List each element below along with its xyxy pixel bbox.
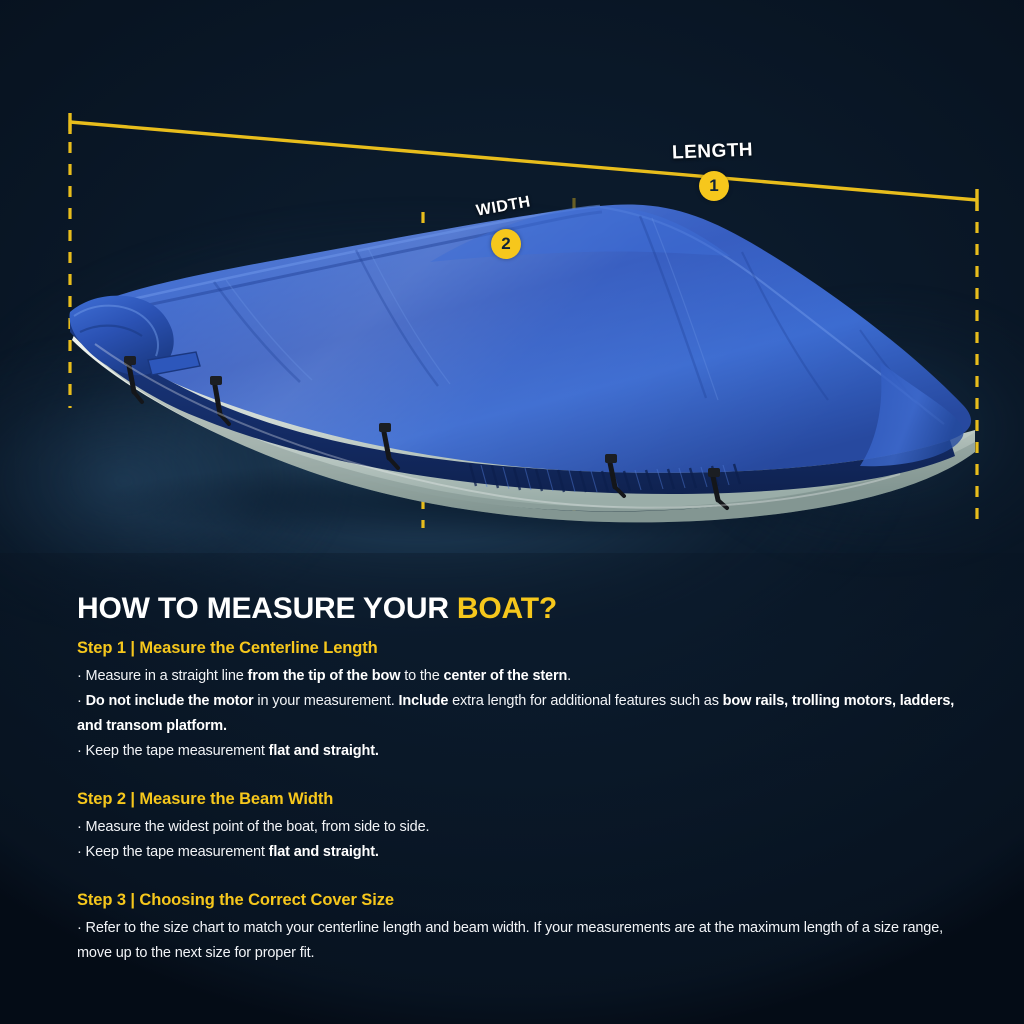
length-measure-line: [70, 122, 977, 200]
step-3-heading: Step 3 | Choosing the Correct Cover Size: [77, 891, 957, 910]
bullet-text: · Keep the tape measurement: [77, 844, 269, 860]
boat-diagram-svg: [0, 0, 1024, 570]
bullet-text: in your measurement.: [254, 693, 399, 709]
bullet-text: to the: [400, 668, 443, 684]
boat-measurement-diagram: LENGTH 1 WIDTH 2: [0, 0, 1024, 570]
step-3-block: Step 3 | Choosing the Correct Cover Size…: [77, 891, 957, 966]
bullet-emphasis: flat and straight.: [269, 743, 379, 759]
bullet-text: .: [567, 668, 571, 684]
bullet-text: ·: [77, 693, 86, 709]
instructions-panel: HOW TO MEASURE YOUR BOAT? Step 1 | Measu…: [77, 592, 957, 966]
bullet-text: · Keep the tape measurement: [77, 743, 269, 759]
length-badge-1: 1: [699, 171, 729, 201]
step-2-block: Step 2 | Measure the Beam Width · Measur…: [77, 790, 957, 865]
width-badge-2: 2: [491, 229, 521, 259]
bullet-text: · Measure in a straight line: [77, 668, 248, 684]
step-2-bullet: · Keep the tape measurement flat and str…: [77, 840, 957, 865]
step-1-bullet: · Measure in a straight line from the ti…: [77, 664, 957, 689]
step-3-bullets: · Refer to the size chart to match your …: [77, 916, 957, 966]
bullet-emphasis: from the tip of the bow: [248, 668, 401, 684]
step-3-bullet: · Refer to the size chart to match your …: [77, 916, 957, 966]
bullet-text: · Measure the widest point of the boat, …: [77, 819, 429, 835]
page-title-accent: BOAT?: [457, 592, 557, 625]
bullet-emphasis: Include: [399, 693, 449, 709]
step-1-bullets: · Measure in a straight line from the ti…: [77, 664, 957, 764]
bullet-emphasis: flat and straight.: [269, 844, 379, 860]
length-label: LENGTH: [672, 139, 754, 164]
page-title: HOW TO MEASURE YOUR BOAT?: [77, 592, 957, 625]
step-1-bullet: · Keep the tape measurement flat and str…: [77, 739, 957, 764]
bullet-emphasis: center of the stern: [444, 668, 568, 684]
infographic-page: LENGTH 1 WIDTH 2 HOW TO MEASURE YOUR BOA…: [0, 0, 1024, 1024]
bullet-text: · Refer to the size chart to match your …: [77, 920, 943, 961]
step-2-bullet: · Measure the widest point of the boat, …: [77, 815, 957, 840]
step-1-heading: Step 1 | Measure the Centerline Length: [77, 639, 957, 658]
step-1-bullet: · Do not include the motor in your measu…: [77, 689, 957, 739]
page-title-main: HOW TO MEASURE YOUR: [77, 592, 457, 625]
step-2-heading: Step 2 | Measure the Beam Width: [77, 790, 957, 809]
step-1-block: Step 1 | Measure the Centerline Length ·…: [77, 639, 957, 764]
bullet-text: extra length for additional features suc…: [448, 693, 722, 709]
bullet-emphasis: Do not include the motor: [86, 693, 254, 709]
step-2-bullets: · Measure the widest point of the boat, …: [77, 815, 957, 865]
